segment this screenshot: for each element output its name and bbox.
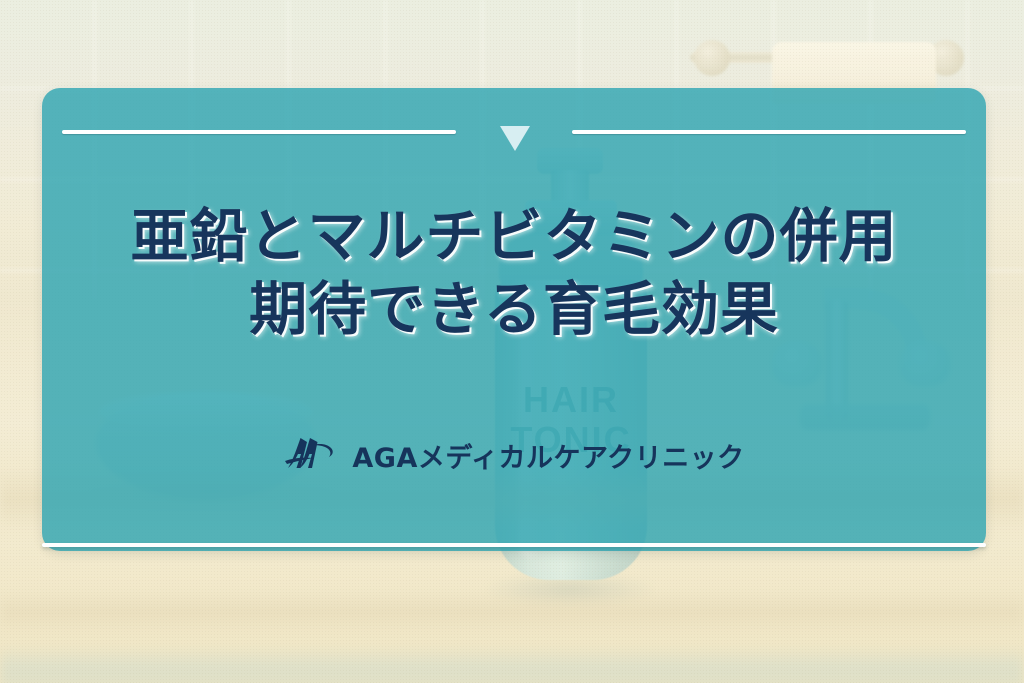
triangle-down-icon (500, 126, 530, 151)
thumbnail-canvas: HAIR TONIC 亜鉛とマルチビタミンの併用 期待できる育毛効果 (0, 0, 1024, 683)
towel-bar-knob-left (694, 40, 730, 76)
brand-logo: AGAメディカルケアクリニック (42, 434, 986, 476)
divider-rule-left (62, 130, 456, 134)
page-title-line-1: 亜鉛とマルチビタミンの併用 (42, 200, 986, 273)
panel-bottom-rule (42, 543, 986, 547)
page-title: 亜鉛とマルチビタミンの併用 期待できる育毛効果 (42, 200, 986, 345)
divider-rule-right (572, 130, 966, 134)
brand-logo-text: AGAメディカルケアクリニック (352, 436, 744, 475)
page-title-line-2: 期待できる育毛効果 (42, 273, 986, 346)
title-panel: 亜鉛とマルチビタミンの併用 期待できる育毛効果 AGAメディカルケアクリニック (42, 88, 986, 551)
counter-edge-middle (0, 592, 1024, 632)
counter-edge-lower (0, 646, 1024, 683)
panel-divider-row (42, 88, 986, 152)
aga-monogram-icon (283, 434, 339, 476)
